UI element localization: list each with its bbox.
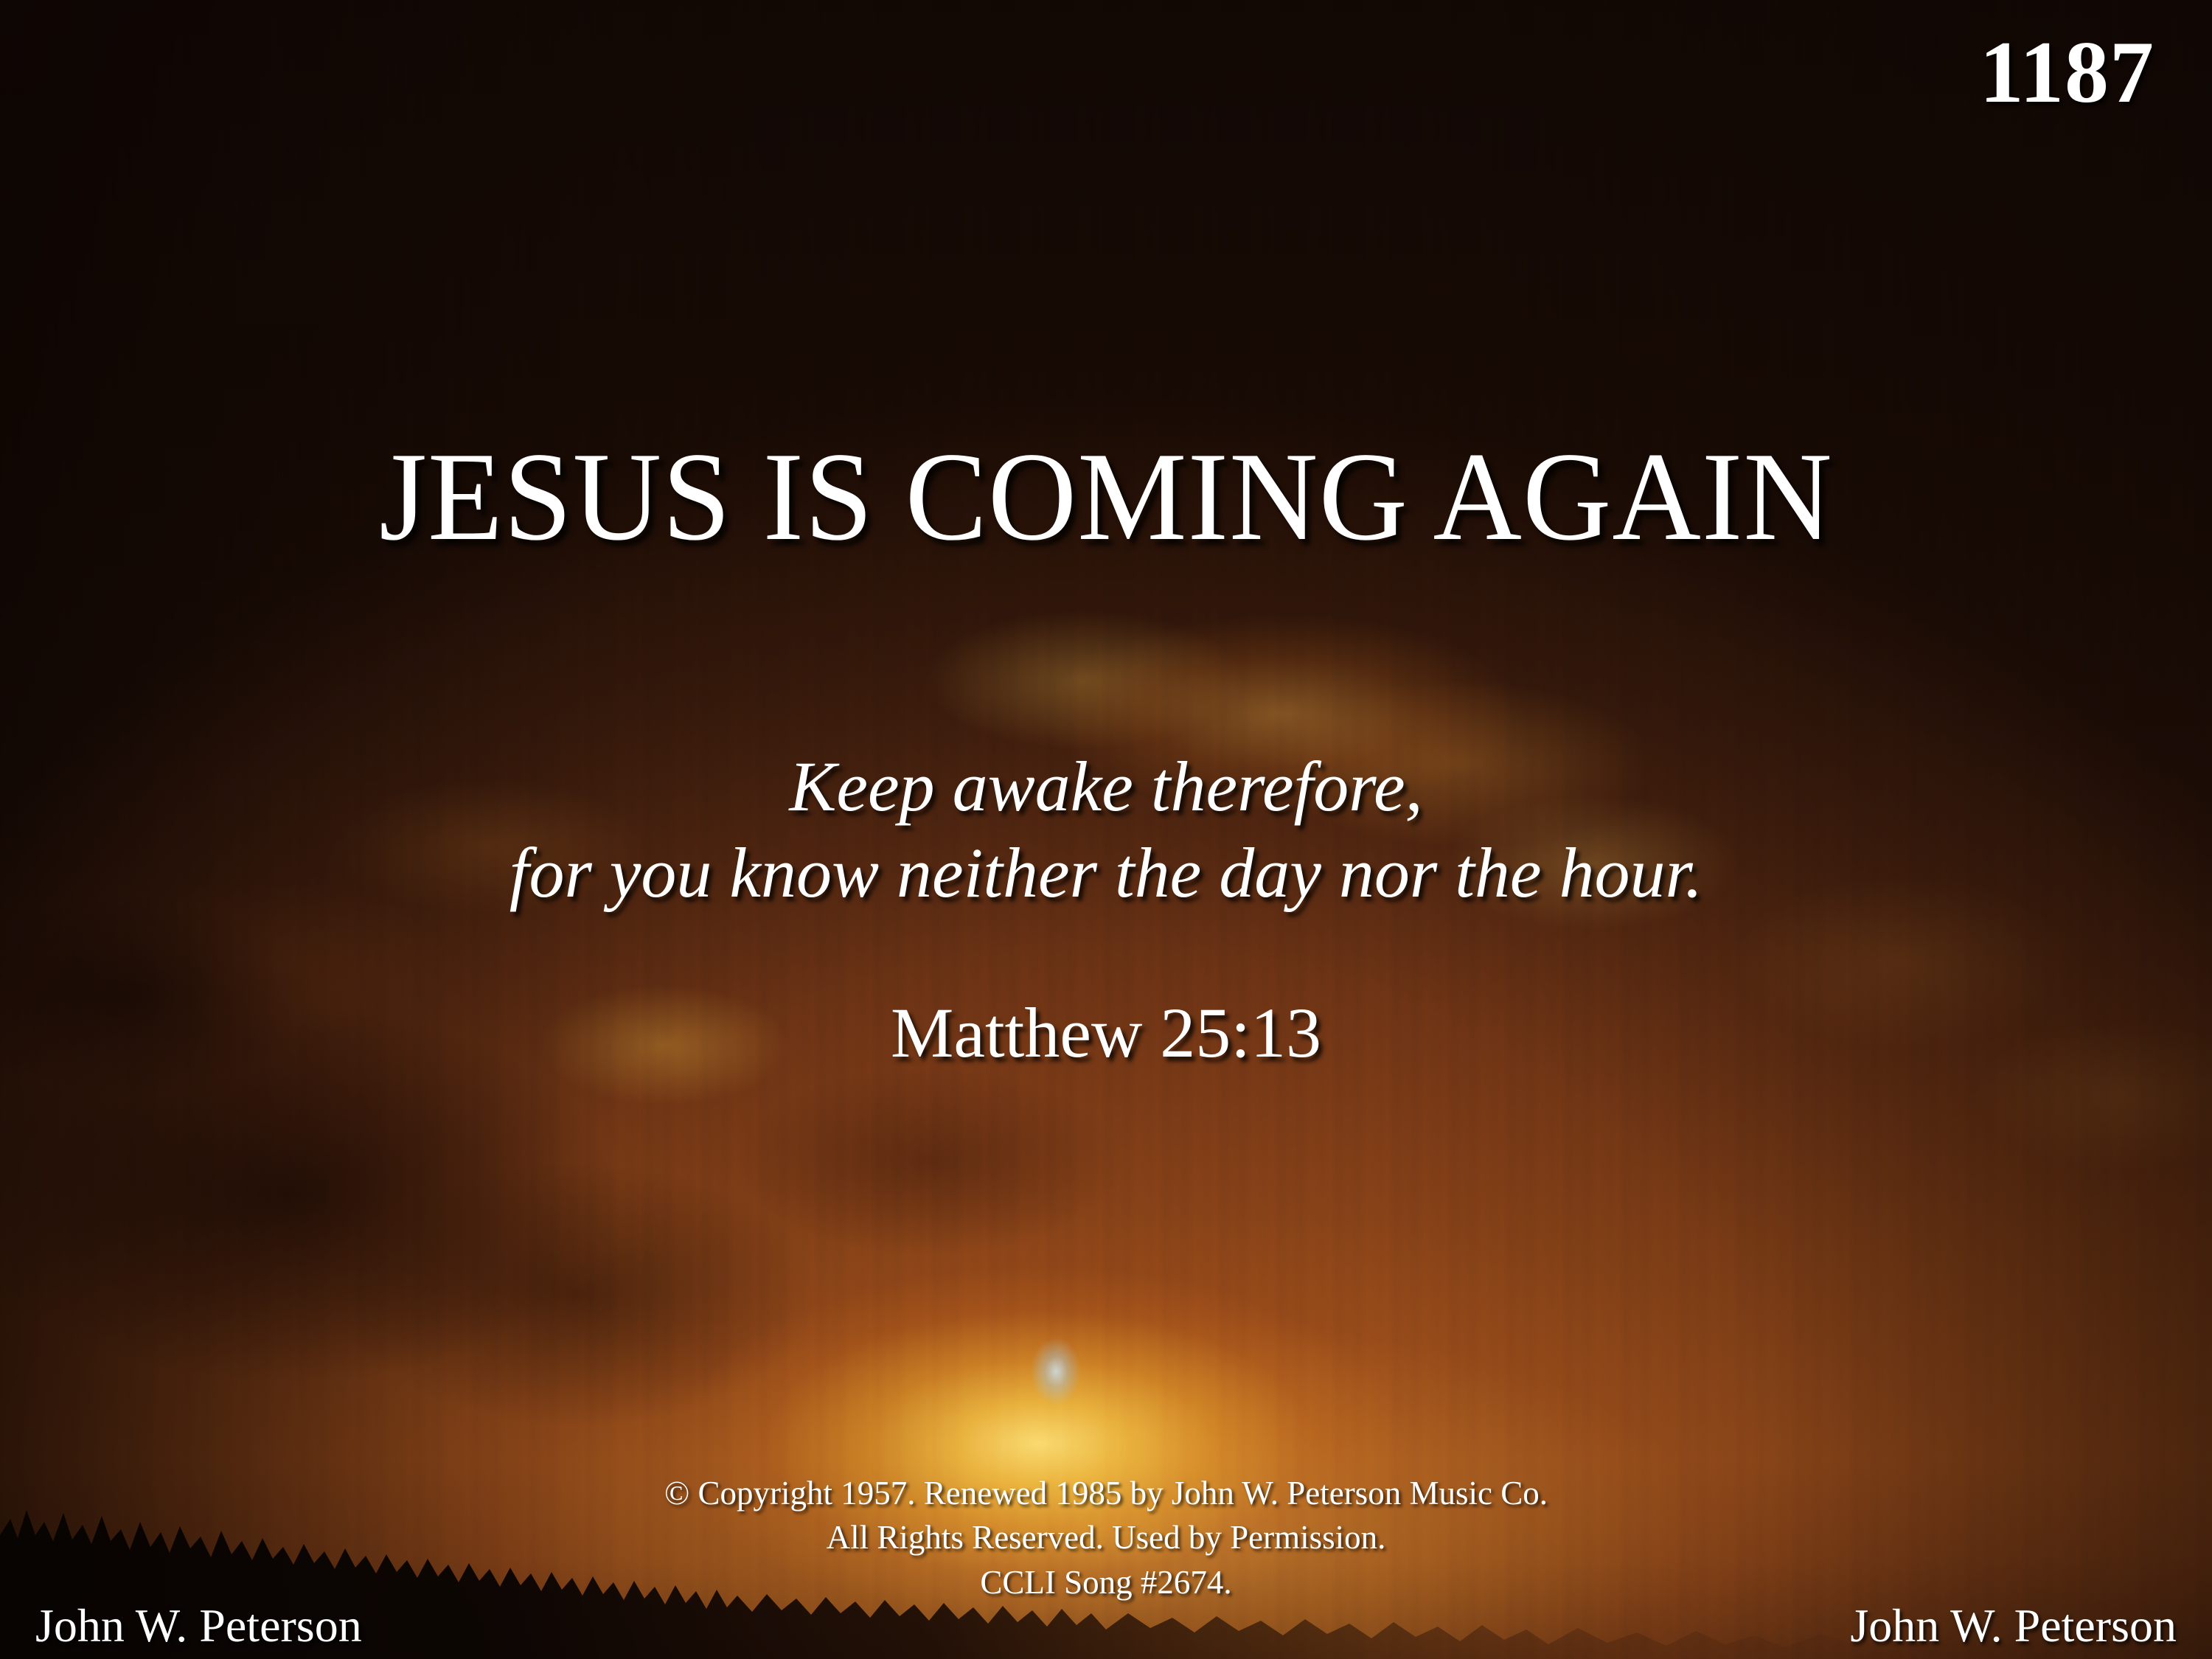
credit-author-right: John W. Peterson bbox=[1850, 1600, 2177, 1652]
hymn-number: 1187 bbox=[1980, 28, 2154, 116]
ccli-song-number: CCLI Song #2674. bbox=[0, 1560, 2212, 1604]
copyright-block: © Copyright 1957. Renewed 1985 by John W… bbox=[0, 1471, 2212, 1604]
scripture-reference: Matthew 25:13 bbox=[0, 994, 2212, 1072]
scripture-quote: Keep awake therefore, for you know neith… bbox=[0, 743, 2212, 916]
slide-content: 1187 JESUS IS COMING AGAIN Keep awake th… bbox=[0, 0, 2212, 1659]
copyright-line-1: © Copyright 1957. Renewed 1985 by John W… bbox=[0, 1471, 2212, 1515]
hymn-slide: 1187 JESUS IS COMING AGAIN Keep awake th… bbox=[0, 0, 2212, 1659]
copyright-line-2: All Rights Reserved. Used by Permission. bbox=[0, 1515, 2212, 1559]
scripture-line-1: Keep awake therefore, bbox=[0, 743, 2212, 829]
page-title: JESUS IS COMING AGAIN bbox=[33, 434, 2179, 560]
credit-author-left: John W. Peterson bbox=[35, 1600, 362, 1652]
scripture-line-2: for you know neither the day nor the hou… bbox=[0, 829, 2212, 916]
